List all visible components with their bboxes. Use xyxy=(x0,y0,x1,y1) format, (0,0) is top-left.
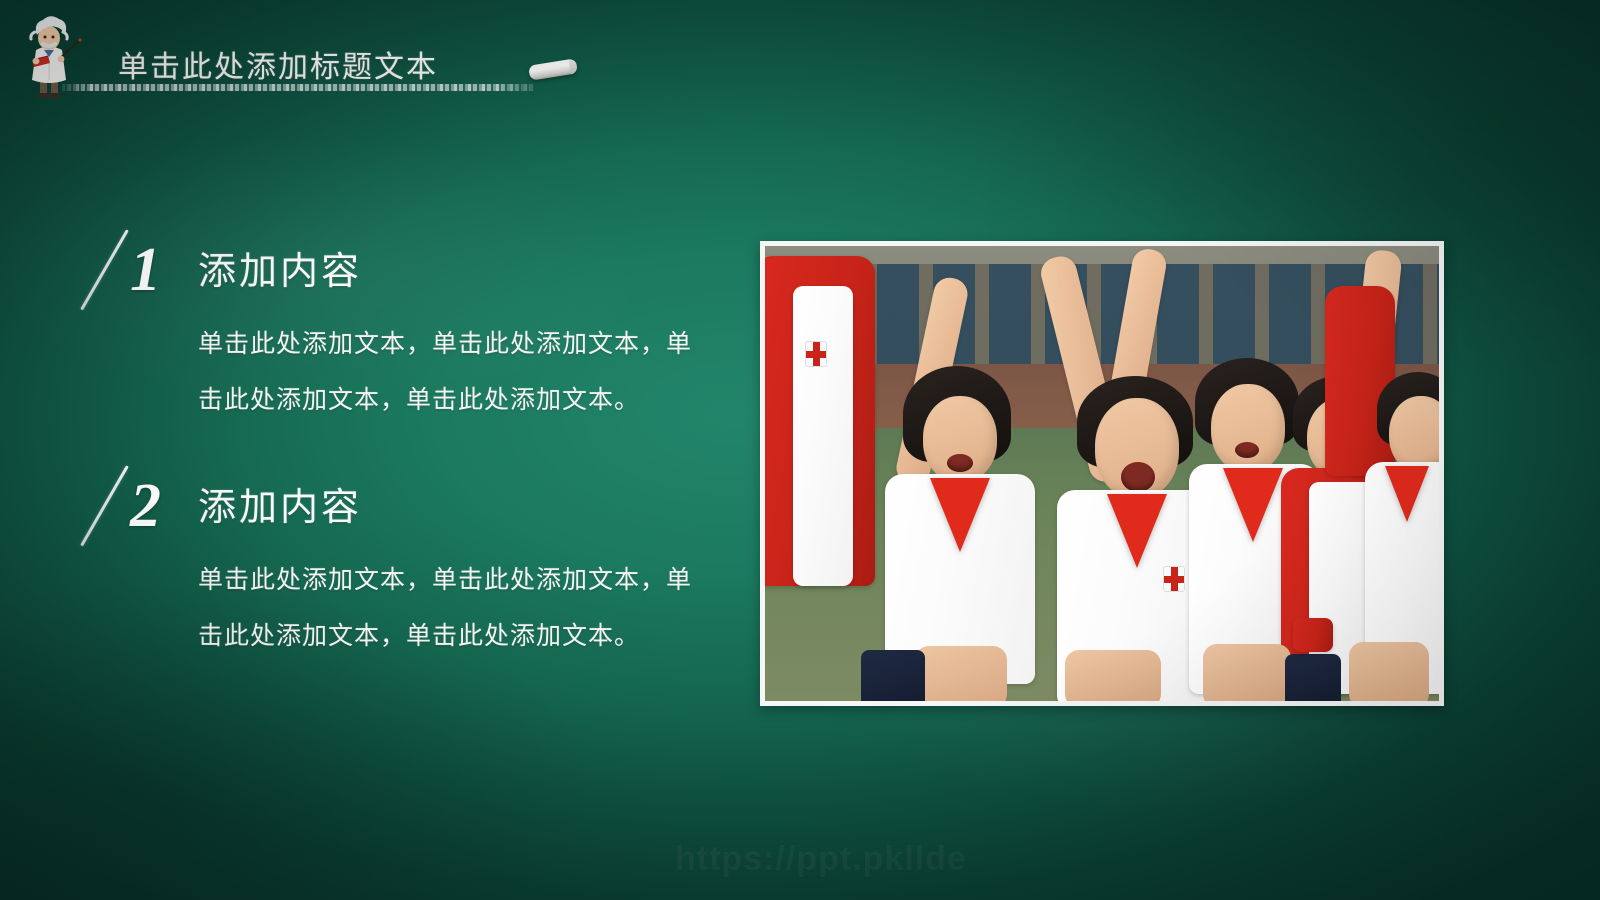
list-item: 2 添加内容 单击此处添加文本，单击此处添加文本，单击此处添加文本，单击此处添加… xyxy=(120,474,740,664)
content-list: 1 添加内容 单击此处添加文本，单击此处添加文本，单击此处添加文本，单击此处添加… xyxy=(120,238,740,710)
list-item-number: 1 xyxy=(130,234,161,306)
list-item-header: 1 添加内容 xyxy=(120,238,740,310)
chalk-underline xyxy=(62,84,534,91)
watermark: https://ppt.pkllde xyxy=(675,840,967,879)
slide-header: 单击此处添加标题文本 xyxy=(0,0,1600,110)
list-item-body: 单击此处添加文本，单击此处添加文本，单击此处添加文本，单击此处添加文本。 xyxy=(198,552,706,664)
list-item-title: 添加内容 xyxy=(198,240,362,295)
students-cheering-photo xyxy=(765,246,1439,701)
photo-frame xyxy=(760,241,1444,706)
slash-stroke-icon xyxy=(80,465,129,546)
list-item-body: 单击此处添加文本，单击此处添加文本，单击此处添加文本，单击此处添加文本。 xyxy=(198,316,706,428)
chalk-stick-icon xyxy=(528,58,578,80)
list-item: 1 添加内容 单击此处添加文本，单击此处添加文本，单击此处添加文本，单击此处添加… xyxy=(120,238,740,428)
slash-stroke-icon xyxy=(80,229,129,310)
page-title: 单击此处添加标题文本 xyxy=(118,42,438,86)
slide-canvas: 单击此处添加标题文本 1 添加内容 单击此处添加文本，单击此处添加文本，单击此处… xyxy=(0,0,1600,900)
list-item-title: 添加内容 xyxy=(198,476,362,531)
list-item-header: 2 添加内容 xyxy=(120,474,740,546)
list-item-number: 2 xyxy=(130,470,161,542)
